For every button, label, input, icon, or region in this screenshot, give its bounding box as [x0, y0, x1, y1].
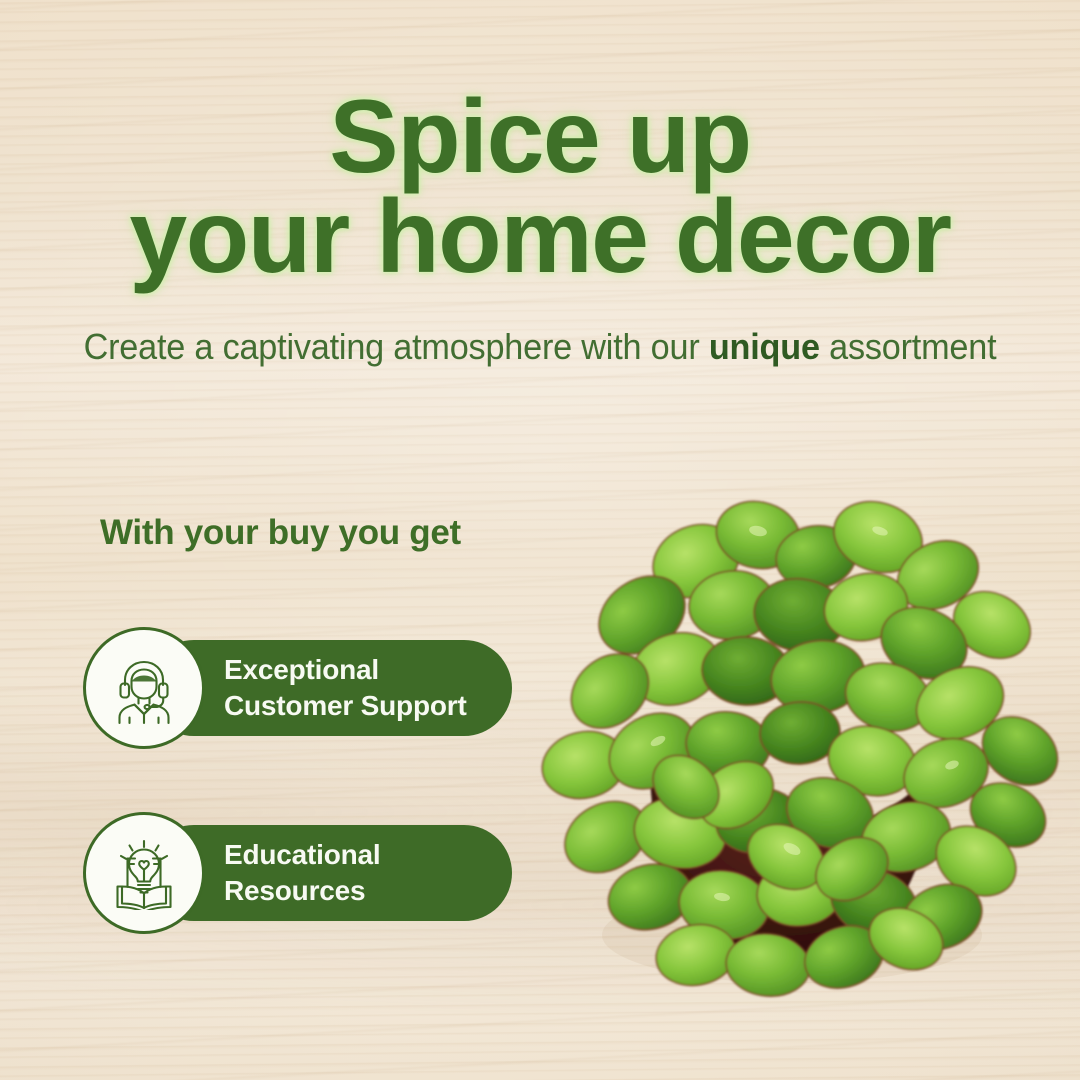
- page-title: Spice up your home decor: [0, 84, 1080, 290]
- headline-line-1: Spice up: [0, 84, 1080, 190]
- lightbulb-open-book-icon: [83, 812, 205, 934]
- jade-plant-top-view: [500, 465, 1070, 1015]
- headset-support-agent-icon: [83, 627, 205, 749]
- headline-line-2: your home decor: [0, 184, 1080, 290]
- subtitle: Create a captivating atmosphere with our…: [27, 327, 1053, 367]
- subtitle-emphasis: unique: [709, 326, 820, 367]
- section-heading: With your buy you get: [100, 513, 461, 553]
- subtitle-before: Create a captivating atmosphere with our: [84, 326, 709, 367]
- feature-label-customer-support: Exceptional Customer Support: [224, 652, 467, 725]
- poster-canvas: Spice up your home decor Create a captiv…: [0, 0, 1080, 1080]
- subtitle-after: assortment: [820, 326, 997, 367]
- feature-label-educational-resources: Educational Resources: [224, 837, 381, 910]
